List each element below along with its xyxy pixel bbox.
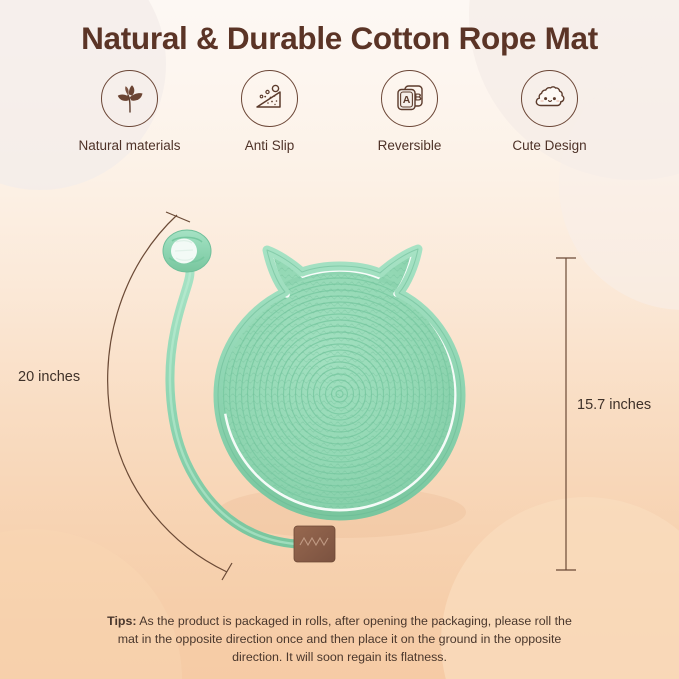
infographic-page: Natural & Durable Cotton Rope Mat Natura… [0, 0, 679, 679]
product-tag [294, 526, 335, 562]
tips-text: As the product is packaged in rolls, aft… [118, 614, 572, 664]
tips-block: Tips: As the product is packaged in roll… [105, 612, 574, 667]
dimension-label-left: 20 inches [18, 369, 80, 385]
dimension-label-right: 15.7 inches [577, 397, 651, 413]
mat-body [200, 235, 490, 535]
product-illustration: 20 inches 15.7 inches [0, 0, 679, 679]
dimension-right [556, 258, 576, 570]
tips-label: Tips: [107, 614, 136, 628]
rope-knot-ball [163, 230, 211, 272]
